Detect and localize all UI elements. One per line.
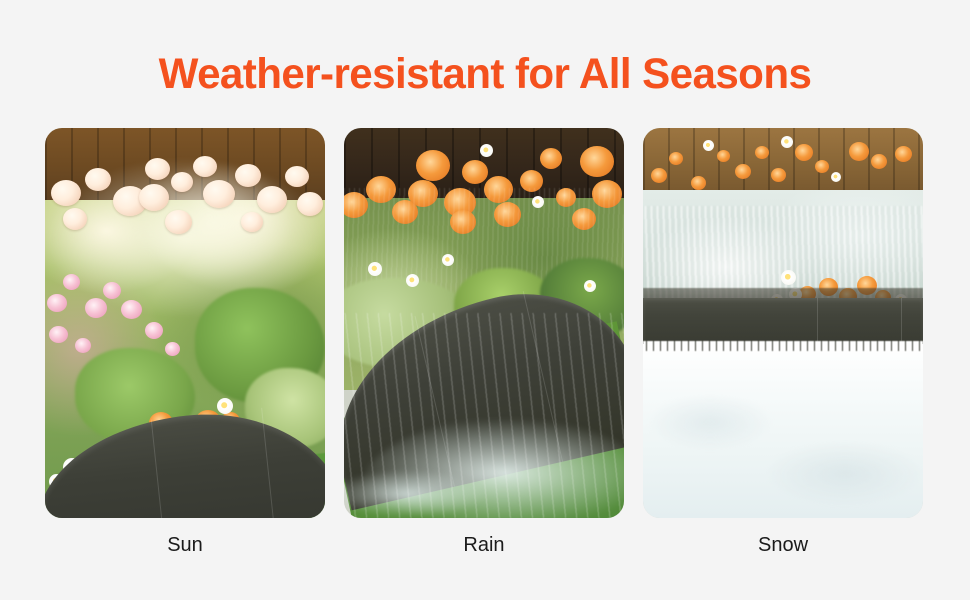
caption-snow: Snow xyxy=(643,530,923,564)
caption-rain: Rain xyxy=(344,530,624,564)
image-gallery xyxy=(45,128,925,518)
caption-sun: Sun xyxy=(45,530,325,564)
rain-streaks xyxy=(344,313,624,518)
snow-ground-edge xyxy=(643,341,923,351)
sun-rose-row xyxy=(45,150,325,270)
page-title: Weather-resistant for All Seasons xyxy=(10,48,961,100)
snow-surface-texture xyxy=(643,358,923,518)
promo-banner: Weather-resistant for All Seasons xyxy=(0,0,970,600)
gallery-panel-rain[interactable] xyxy=(344,128,624,518)
caption-row: Sun Rain Snow xyxy=(45,530,925,564)
snow-marigold-row xyxy=(643,132,923,212)
gallery-panel-sun[interactable] xyxy=(45,128,325,518)
gallery-panel-snow[interactable] xyxy=(643,128,923,518)
